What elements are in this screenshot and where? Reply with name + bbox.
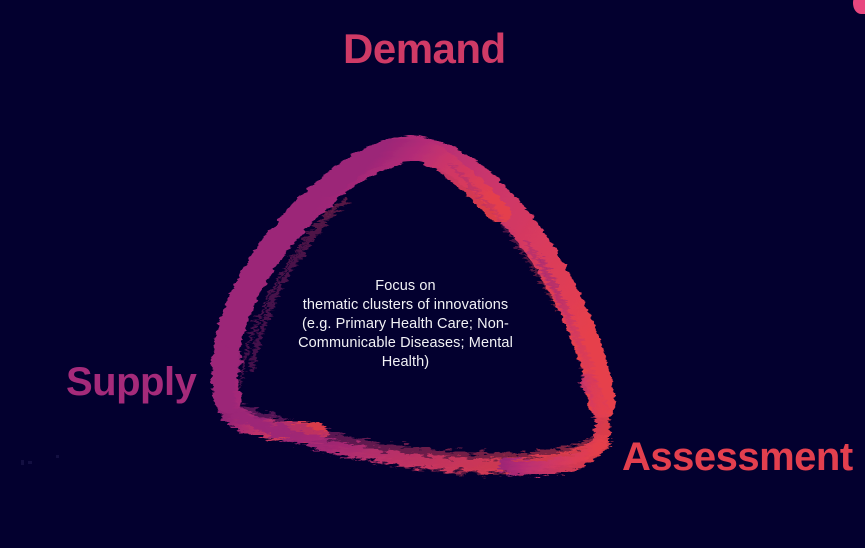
slide-canvas: Demand Supply Assessment Focus on themat… [0,0,865,548]
speckle-artifact [21,460,24,465]
speckle-artifact [56,455,59,458]
corner-sliver-decoration [853,0,865,14]
vertex-label-demand: Demand [343,28,506,70]
vertex-label-assessment: Assessment [622,437,853,477]
vertex-label-supply: Supply [66,362,196,402]
center-focus-text: Focus on thematic clusters of innovation… [283,277,528,372]
speckle-artifact [28,461,32,464]
